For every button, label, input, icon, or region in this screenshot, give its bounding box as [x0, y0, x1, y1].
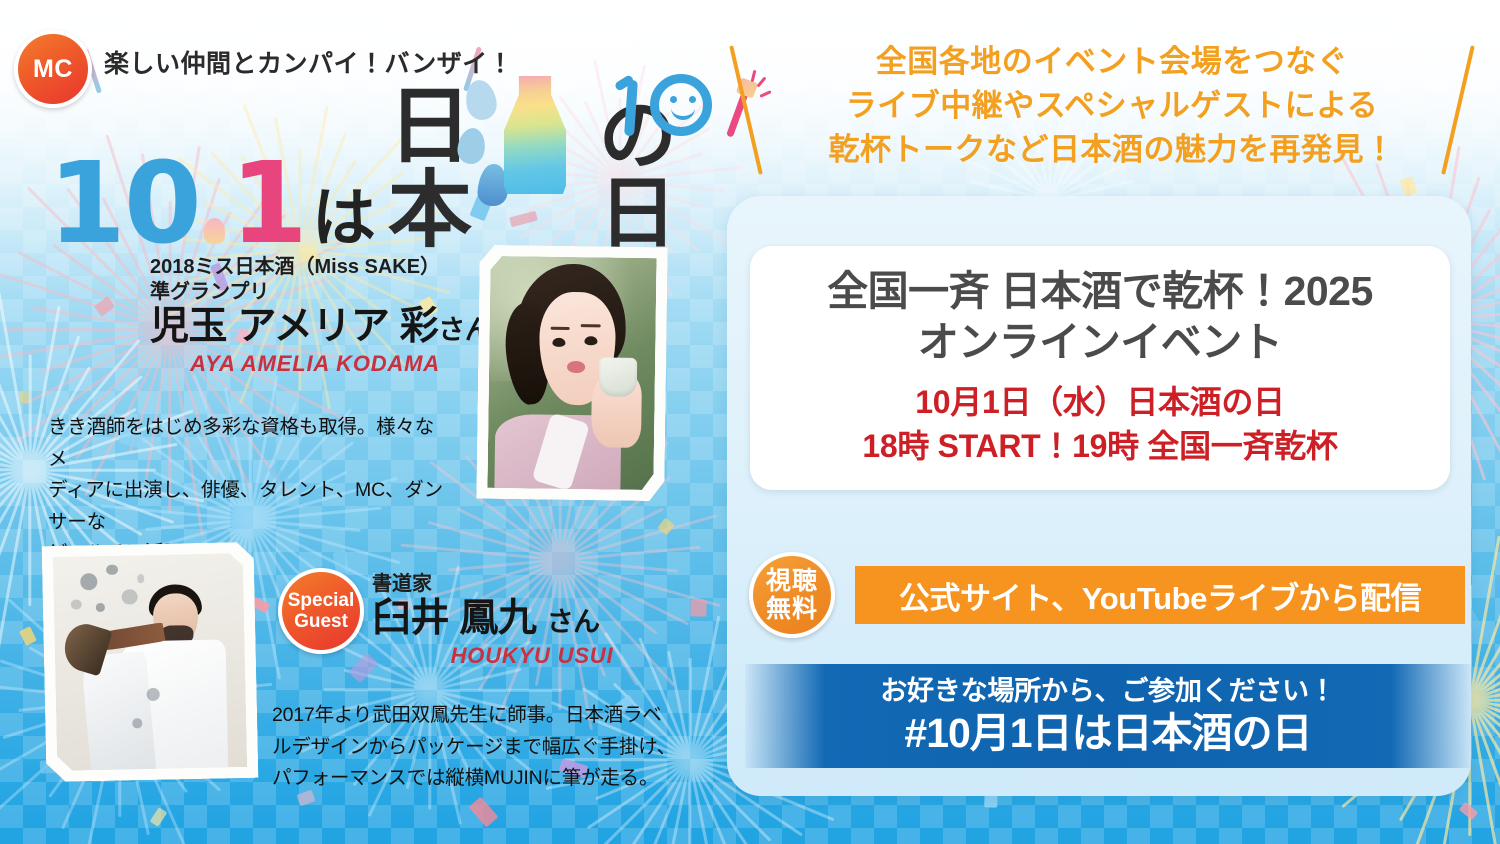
guest-photo — [42, 542, 259, 782]
guest-bio-line-3: パフォーマンスでは縦横MUJINに筆が走る。 — [272, 763, 692, 795]
broadcast-banner: 公式サイト、YouTubeライブから配信 — [855, 566, 1465, 624]
footer-hashtag: #10月1日は日本酒の日 — [904, 709, 1311, 757]
mc-badge-label: MC — [33, 55, 73, 83]
logo-headline: 10 1 は 日本 の日 — [48, 84, 722, 256]
mc-role-line-1: 2018ミス日本酒（Miss SAKE） — [150, 255, 480, 280]
mc-info: 2018ミス日本酒（Miss SAKE） 準グランプリ 児玉 アメリア 彩さん … — [150, 255, 480, 377]
broadcast-banner-label: 公式サイト、YouTubeライブから配信 — [899, 573, 1421, 618]
event-title-line-2: オンラインイベント — [918, 317, 1283, 368]
watch-free-row: 視聴 無料 公式サイト、YouTubeライブから配信 — [745, 548, 1465, 640]
footer-invite-text: お好きな場所から、ご参加ください！ — [880, 675, 1336, 707]
ten-smiley-icon — [626, 74, 738, 148]
poster-canvas: 楽しい仲間とカンパイ！バンザイ！ 10 1 は 日本 の日 — [0, 0, 1500, 844]
confetti-piece — [19, 391, 29, 403]
mc-badge: MC — [14, 30, 92, 108]
blurb-line-3: 乾杯トークなど日本酒の魅力を再発見！ — [762, 128, 1462, 172]
event-card: 全国一斉 日本酒で乾杯！2025 オンラインイベント 10月1日（水）日本酒の日… — [750, 246, 1450, 490]
logo-dot-icon — [204, 218, 225, 244]
mc-name: 児玉 アメリア 彩さん — [150, 305, 480, 349]
watch-free-badge: 視聴 無料 — [749, 552, 835, 638]
sake-bottle-icon — [504, 76, 566, 194]
mc-name-text: 児玉 アメリア 彩 — [150, 305, 438, 348]
logo-ha: は — [312, 186, 376, 250]
event-date-line-1: 10月1日（水）日本酒の日 — [915, 380, 1285, 424]
guest-bio-line-1: 2017年より武田双鳳先生に師事。日本酒ラベ — [272, 700, 692, 732]
guest-bio-line-2: ルデザインからパッケージまで幅広ぐ手掛け、 — [272, 732, 692, 764]
blurb-line-1: 全国各地のイベント会場をつなぐ — [762, 40, 1462, 84]
logo-tagline: 楽しい仲間とカンパイ！バンザイ！ — [104, 44, 513, 80]
header-blurb: 全国各地のイベント会場をつなぐ ライブ中継やスペシャルゲストによる 乾杯トークな… — [762, 40, 1462, 172]
logo-date-month: 10 — [48, 153, 200, 256]
mc-photo — [476, 245, 668, 502]
guest-name-honorific: さん — [547, 607, 600, 637]
special-guest-badge: Special Guest — [278, 568, 364, 654]
blurb-line-2: ライブ中継やスペシャルゲストによる — [762, 84, 1462, 128]
guest-name: 臼井 鳳九 さん — [372, 597, 692, 641]
guest-role-line-1: 書道家 — [372, 572, 692, 597]
event-logo: 楽しい仲間とカンパイ！バンザイ！ 10 1 は 日本 の日 — [42, 44, 722, 194]
guest-romaji: HOUKYU USUI — [372, 643, 692, 669]
guest-name-text: 臼井 鳳九 — [372, 597, 536, 640]
mc-role-line-2: 準グランプリ — [150, 280, 480, 305]
footer-hashtag-banner: お好きな場所から、ご参加ください！ #10月1日は日本酒の日 — [745, 664, 1471, 768]
event-date-line-2: 18時 START！19時 全国一斉乾杯 — [862, 424, 1337, 468]
confetti-piece — [690, 599, 706, 616]
mc-bio-line-2: ディアに出演し、俳優、タレント、MC、ダンサーな — [48, 475, 448, 538]
event-title-line-1: 全国一斉 日本酒で乾杯！2025 — [827, 266, 1373, 317]
guest-info: 書道家 臼井 鳳九 さん HOUKYU USUI — [372, 572, 692, 669]
mc-romaji: AYA AMELIA KODAMA — [150, 351, 480, 377]
guest-bio: 2017年より武田双鳳先生に師事。日本酒ラベ ルデザインからパッケージまで幅広ぐ… — [272, 700, 692, 795]
mc-bio-line-1: きき酒師をはじめ多彩な資格も取得。様々なメ — [48, 412, 448, 475]
watch-free-badge-label: 視聴 無料 — [766, 567, 818, 623]
special-guest-badge-label: Special Guest — [288, 590, 355, 633]
logo-date-day: 1 — [230, 153, 306, 256]
